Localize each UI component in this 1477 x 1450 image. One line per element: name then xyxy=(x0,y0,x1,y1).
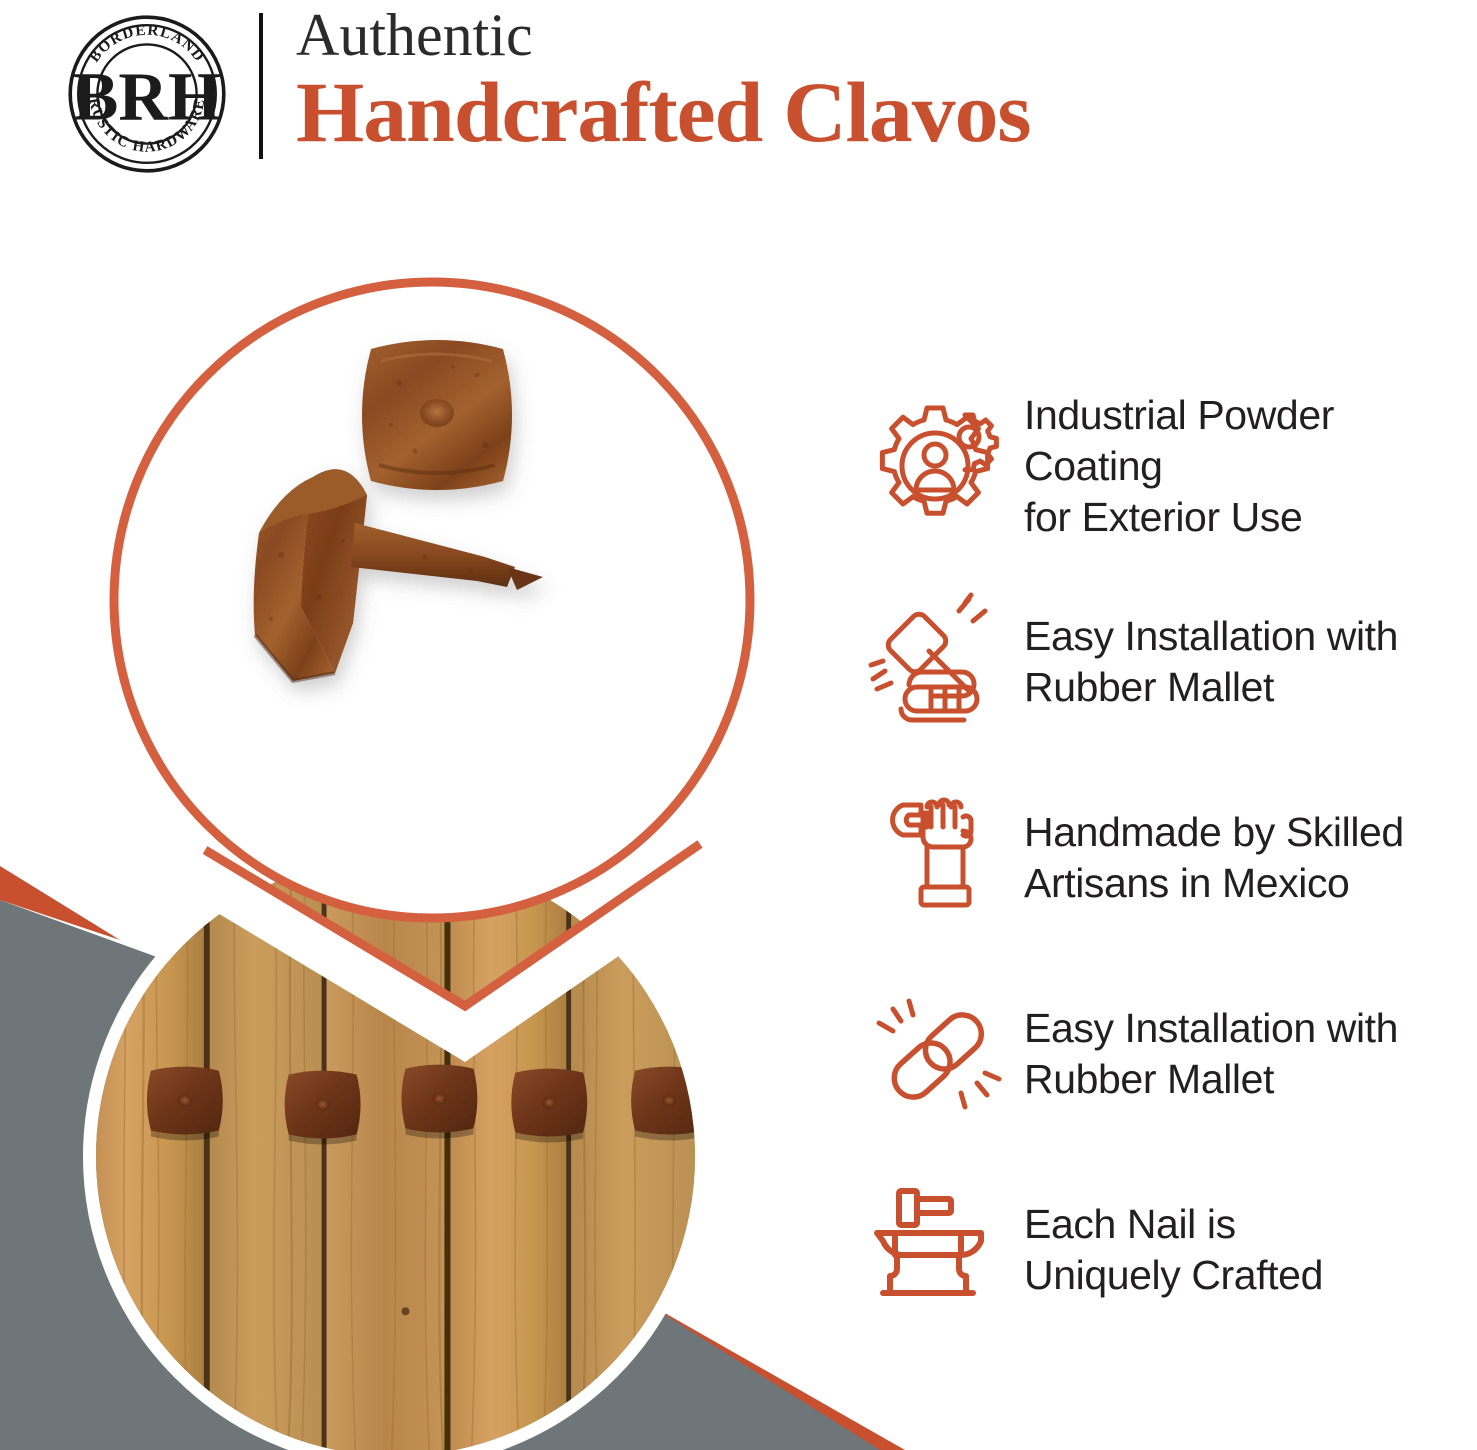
logo-monogram: BRH xyxy=(72,59,221,135)
title-line-handcrafted-clavos: Handcrafted Clavos xyxy=(296,68,1031,156)
feature-item-handmade: Handmade by Skilled Artisans in Mexico xyxy=(856,760,1476,956)
hero-visual xyxy=(0,200,820,1450)
feature-line2: Uniquely Crafted xyxy=(1024,1250,1323,1301)
gear-person-icon xyxy=(856,391,1024,541)
brand-logo: BORDERLAND RUSTIC HARDWARE BRH xyxy=(48,14,246,174)
feature-line1: Industrial Powder Coating xyxy=(1024,392,1334,489)
clavo-head-front xyxy=(362,340,512,490)
feature-label: Easy Installation with Rubber Mallet xyxy=(1024,1003,1398,1105)
clavo-angled-with-shank xyxy=(254,469,543,681)
feature-item-easy-install-1: Easy Installation with Rubber Mallet xyxy=(856,564,1476,760)
header-divider xyxy=(259,13,263,159)
feature-line2: for Exterior Use xyxy=(1024,492,1476,543)
product-photo-clavos xyxy=(185,305,685,735)
feature-label: Easy Installation with Rubber Mallet xyxy=(1024,611,1398,713)
feature-item-easy-install-2: Easy Installation with Rubber Mallet xyxy=(856,956,1476,1152)
page-header: BORDERLAND RUSTIC HARDWARE BRH Authentic… xyxy=(0,0,1477,185)
feature-list: Industrial Powder Coating for Exterior U… xyxy=(856,368,1476,1348)
page-title: Authentic Handcrafted Clavos xyxy=(296,4,1016,156)
feature-label: Handmade by Skilled Artisans in Mexico xyxy=(1024,807,1404,909)
feature-line1: Each Nail is xyxy=(1024,1201,1236,1247)
feature-item-uniquely-crafted: Each Nail is Uniquely Crafted xyxy=(856,1152,1476,1348)
feature-item-powder-coating: Industrial Powder Coating for Exterior U… xyxy=(856,368,1476,564)
feature-line1: Easy Installation with xyxy=(1024,1005,1398,1051)
hand-wrench-icon xyxy=(856,783,1024,933)
feature-line1: Easy Installation with xyxy=(1024,613,1398,659)
anvil-hammer-icon xyxy=(856,1175,1024,1325)
title-line-authentic: Authentic xyxy=(296,4,1016,66)
feature-line2: Rubber Mallet xyxy=(1024,1054,1398,1105)
feature-line2: Artisans in Mexico xyxy=(1024,858,1404,909)
feature-line1: Handmade by Skilled xyxy=(1024,809,1404,855)
feature-label: Industrial Powder Coating for Exterior U… xyxy=(1024,390,1476,543)
infographic-page: BORDERLAND RUSTIC HARDWARE BRH Authentic… xyxy=(0,0,1477,1450)
feature-label: Each Nail is Uniquely Crafted xyxy=(1024,1199,1323,1301)
hand-mallet-icon xyxy=(856,587,1024,737)
chain-link-icon xyxy=(856,979,1024,1129)
feature-line2: Rubber Mallet xyxy=(1024,662,1398,713)
